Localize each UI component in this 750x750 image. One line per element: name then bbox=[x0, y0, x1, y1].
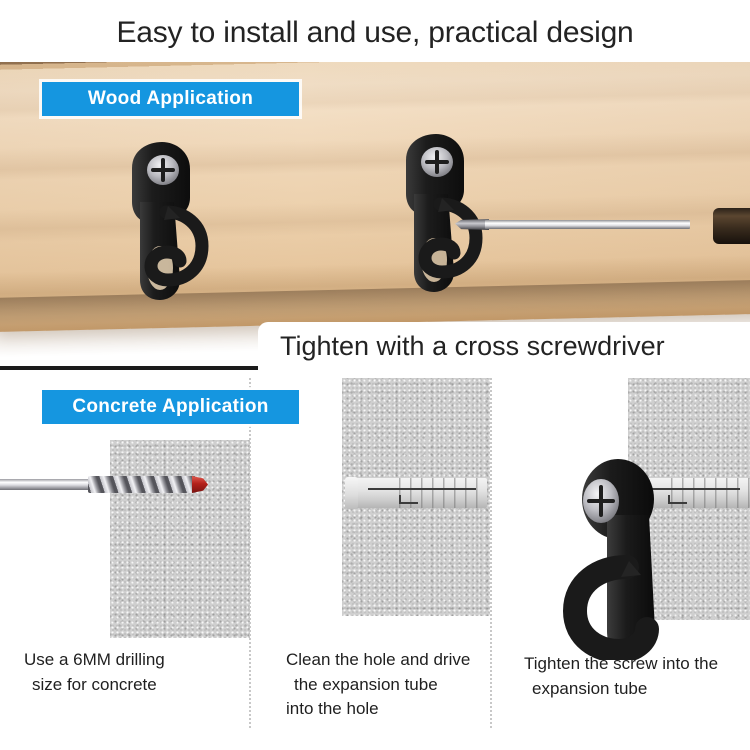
screwdriver bbox=[455, 208, 750, 250]
hook-concrete bbox=[555, 455, 675, 660]
screwdriver-handle bbox=[713, 208, 750, 244]
caption-step-1-line-1: Use a 6MM drilling bbox=[24, 648, 234, 673]
caption-step-1-line-2: size for concrete bbox=[24, 673, 234, 698]
drill-bit-shank bbox=[0, 479, 92, 490]
screwdriver-shaft bbox=[485, 220, 690, 229]
caption-step-2: Clean the hole and drive the expansion t… bbox=[286, 648, 491, 722]
caption-step-2-line-1: Clean the hole and drive bbox=[286, 648, 491, 673]
expansion-tube-slot bbox=[368, 488, 476, 490]
caption-step-1: Use a 6MM drilling size for concrete bbox=[24, 648, 234, 697]
hook-concrete-icon bbox=[555, 455, 675, 660]
expansion-tube-collar bbox=[345, 477, 358, 509]
drill-bit-flute bbox=[88, 476, 196, 493]
caption-step-3: Tighten the screw into the expansion tub… bbox=[524, 652, 744, 701]
infographic-page: Easy to install and use, practical desig… bbox=[0, 0, 750, 750]
hook-left bbox=[118, 140, 210, 308]
caption-step-2-line-3: into the hole bbox=[286, 697, 491, 722]
tighten-caption-box: Tighten with a cross screwdriver bbox=[258, 322, 750, 370]
drill-bit-carbide-tip bbox=[192, 476, 208, 493]
panel-divider-1 bbox=[249, 378, 251, 728]
badge-concrete-application: Concrete Application bbox=[42, 390, 299, 424]
page-title: Easy to install and use, practical desig… bbox=[0, 16, 750, 49]
tighten-caption-text: Tighten with a cross screwdriver bbox=[280, 326, 665, 366]
expansion-tube-step2 bbox=[345, 478, 487, 508]
concrete-block-step1 bbox=[110, 440, 250, 638]
caption-step-3-line-1: Tighten the screw into the bbox=[524, 652, 744, 677]
badge-wood-application: Wood Application bbox=[42, 82, 299, 116]
screwdriver-tip bbox=[455, 219, 489, 230]
caption-step-3-line-2: expansion tube bbox=[524, 677, 744, 702]
expansion-tube-notch bbox=[399, 495, 418, 504]
drill-bit bbox=[0, 472, 212, 496]
hook-left-icon bbox=[118, 140, 210, 308]
caption-step-2-line-2: the expansion tube bbox=[286, 673, 491, 698]
